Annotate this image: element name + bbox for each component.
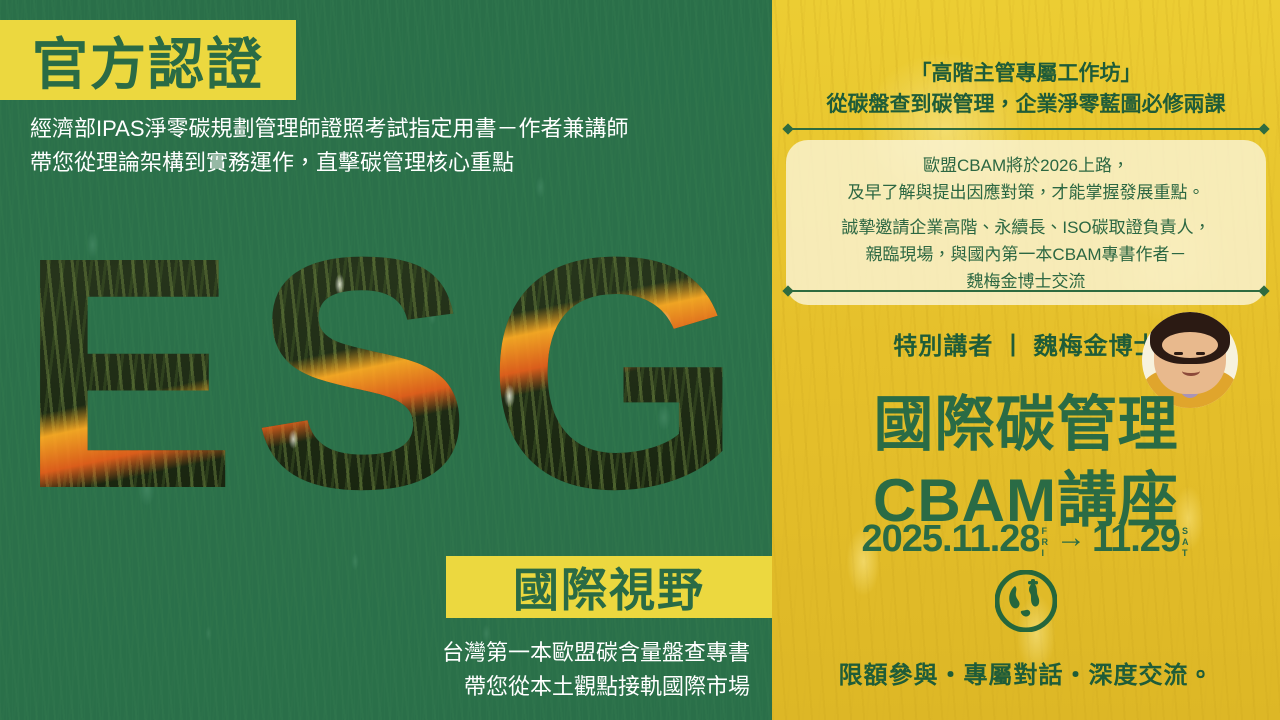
right-panel: 「高階主管專屬工作坊」 從碳盤查到碳管理，企業淨零藍圖必修兩課 歐盟CBAM將於… xyxy=(772,0,1280,720)
divider-line xyxy=(791,290,1261,292)
diamond-right-icon xyxy=(1258,123,1269,134)
weekday-letter: A xyxy=(1182,537,1189,548)
badge-official-certification: 官方認證 xyxy=(0,20,296,100)
esg-wordmark-text: ESG xyxy=(18,228,757,518)
divider-bottom xyxy=(784,286,1268,296)
portrait-hair xyxy=(1150,312,1230,364)
date-start-weekday: F R I xyxy=(1042,526,1049,559)
esg-wordmark: ESG xyxy=(0,228,772,518)
headline-line-1: 「高階主管專屬工作坊」 xyxy=(772,58,1280,89)
divider-top xyxy=(784,124,1268,134)
intro-text-block: 經濟部IPAS淨零碳規劃管理師證照考試指定用書－作者兼講師 帶您從理論架構到實務… xyxy=(30,112,629,180)
workshop-headline: 「高階主管專屬工作坊」 從碳盤查到碳管理，企業淨零藍圖必修兩課 xyxy=(772,58,1280,120)
card-para2-line1: 誠摯邀請企業高階、永續長、ISO碳取證負責人， xyxy=(796,214,1256,241)
event-date-row: 2025.11.28 F R I → 11.29 S A T xyxy=(772,518,1280,561)
weekday-letter: T xyxy=(1182,548,1189,559)
portrait-smile xyxy=(1182,366,1200,376)
globe-icon xyxy=(995,570,1057,632)
outro-line-1: 台灣第一本歐盟碳含量盤查專書 xyxy=(442,636,750,670)
left-panel: 官方認證 經濟部IPAS淨零碳規劃管理師證照考試指定用書－作者兼講師 帶您從理論… xyxy=(0,0,772,720)
speaker-label: 特別講者 丨 魏梅金博士 xyxy=(893,326,1158,361)
badge-official-label: 官方認證 xyxy=(32,20,264,101)
speaker-row: 特別講者 丨 魏梅金博士 xyxy=(772,326,1280,361)
footer-tagline: 限額參與・專屬對話・深度交流。 xyxy=(772,655,1280,690)
globe-logo-wrap xyxy=(772,570,1280,637)
promotional-poster: 官方認證 經濟部IPAS淨零碳規劃管理師證照考試指定用書－作者兼講師 帶您從理論… xyxy=(0,0,1280,720)
weekday-letter: I xyxy=(1042,548,1049,559)
card-para2-line2: 親臨現場，與國內第一本CBAM專書作者－ xyxy=(796,241,1256,268)
card-para1-line2: 及早了解與提出因應對策，才能掌握發展重點。 xyxy=(796,179,1256,206)
date-end-weekday: S A T xyxy=(1182,526,1189,559)
outro-text-block: 台灣第一本歐盟碳含量盤查專書 帶您從本土觀點接軌國際市場 xyxy=(442,636,750,704)
info-card: 歐盟CBAM將於2026上路， 及早了解與提出因應對策，才能掌握發展重點。 誠摯… xyxy=(786,140,1266,305)
divider-line xyxy=(791,128,1261,130)
outro-line-2: 帶您從本土觀點接軌國際市場 xyxy=(442,670,750,704)
card-para1-line1: 歐盟CBAM將於2026上路， xyxy=(796,152,1256,179)
date-range-arrow-icon: → xyxy=(1056,521,1086,555)
date-start: 2025.11.28 xyxy=(861,518,1039,561)
weekday-letter: S xyxy=(1182,526,1189,537)
intro-line-1: 經濟部IPAS淨零碳規劃管理師證照考試指定用書－作者兼講師 xyxy=(30,112,629,146)
weekday-letter: F xyxy=(1042,526,1049,537)
badge-global-vision: 國際視野 xyxy=(446,556,772,618)
paragraph-spacer xyxy=(796,206,1256,214)
date-end: 11.29 xyxy=(1092,518,1180,561)
headline-line-2: 從碳盤查到碳管理，企業淨零藍圖必修兩課 xyxy=(772,89,1280,120)
portrait-eye-right xyxy=(1196,352,1205,355)
badge-global-label: 國際視野 xyxy=(513,554,705,620)
event-title-line-1: 國際碳管理 xyxy=(772,376,1280,463)
diamond-right-icon xyxy=(1258,285,1269,296)
portrait-eye-left xyxy=(1174,352,1183,355)
intro-line-2: 帶您從理論架構到實務運作，直擊碳管理核心重點 xyxy=(30,146,629,180)
weekday-letter: R xyxy=(1042,537,1049,548)
